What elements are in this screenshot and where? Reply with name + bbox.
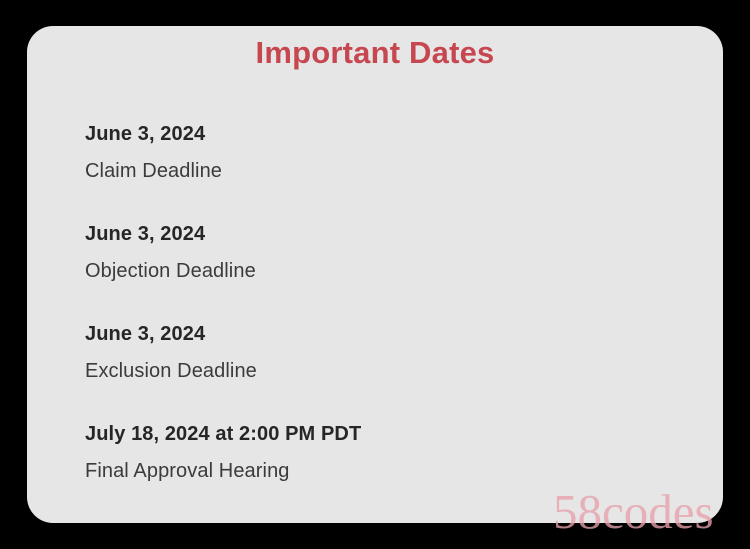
date-value: June 3, 2024 <box>85 321 703 348</box>
page-title: Important Dates <box>27 35 723 71</box>
date-label: Claim Deadline <box>85 158 703 185</box>
date-value: June 3, 2024 <box>85 221 703 248</box>
important-dates-list: June 3, 2024 Claim Deadline June 3, 2024… <box>85 121 703 485</box>
date-label: Objection Deadline <box>85 258 703 285</box>
screen-backdrop: Important Dates June 3, 2024 Claim Deadl… <box>0 0 750 549</box>
list-item: June 3, 2024 Objection Deadline <box>85 221 703 285</box>
date-label: Final Approval Hearing <box>85 458 703 485</box>
list-item: June 3, 2024 Claim Deadline <box>85 121 703 185</box>
important-dates-card: Important Dates June 3, 2024 Claim Deadl… <box>27 26 723 523</box>
date-value: June 3, 2024 <box>85 121 703 148</box>
date-label: Exclusion Deadline <box>85 358 703 385</box>
list-item: June 3, 2024 Exclusion Deadline <box>85 321 703 385</box>
list-item: July 18, 2024 at 2:00 PM PDT Final Appro… <box>85 421 703 485</box>
date-value: July 18, 2024 at 2:00 PM PDT <box>85 421 703 448</box>
